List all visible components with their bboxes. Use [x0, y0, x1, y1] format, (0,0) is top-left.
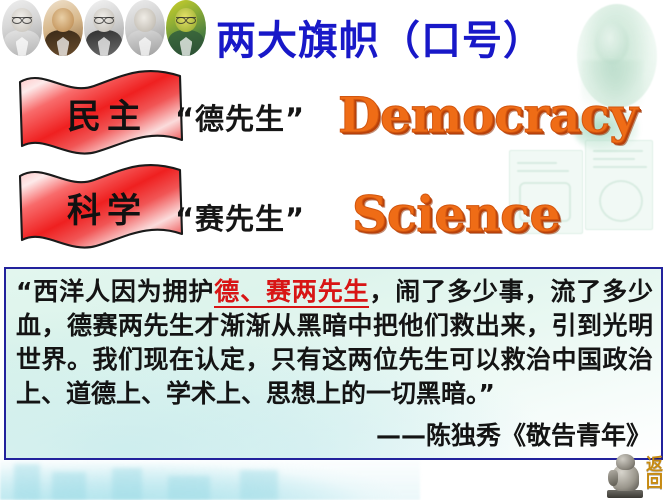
- portrait-face: [52, 8, 74, 33]
- watermark-line: [517, 162, 557, 164]
- statue-icon: [605, 450, 645, 498]
- statue-arm: [608, 470, 618, 486]
- glasses-icon: [12, 17, 33, 23]
- watermark-head: [595, 22, 629, 64]
- portrait-row: [2, 0, 208, 58]
- mr-science-label: “赛先生”: [175, 196, 305, 238]
- portrait-face: [134, 8, 156, 33]
- watermark-peak: [168, 476, 210, 500]
- portrait-5: [166, 0, 206, 56]
- watermark-line: [593, 150, 643, 152]
- watermark-line: [593, 166, 647, 168]
- flag-banner-science: 科学: [14, 160, 194, 252]
- return-button[interactable]: 返回: [605, 448, 667, 500]
- statue-head: [616, 454, 635, 470]
- portrait-2: [43, 0, 83, 56]
- watermark-peak: [240, 470, 278, 500]
- quote-highlight: 德、赛两先生: [214, 277, 369, 308]
- watermark-line: [517, 170, 569, 172]
- english-democracy: Democracy: [338, 86, 637, 144]
- watermark-peak: [112, 468, 142, 500]
- return-button-label: 返回: [646, 457, 664, 491]
- page-title: 两大旗帜（口号）: [216, 14, 566, 68]
- watermark-peak: [52, 472, 86, 500]
- quote-box: “西洋人因为拥护德、赛两先生，闹了多少事，流了多少血，德赛两先生才渐渐从黑暗中把…: [4, 267, 663, 460]
- watermark-line: [593, 158, 635, 160]
- flag-banner-democracy: 民主: [14, 66, 194, 158]
- glasses-icon: [94, 17, 115, 23]
- quote-attribution: ——陈独秀《敬告青年》: [376, 416, 651, 452]
- english-science: Science: [352, 185, 560, 243]
- watermark-sheet-right: [585, 140, 653, 230]
- portrait-3: [84, 0, 124, 56]
- statue-base: [607, 490, 643, 498]
- portrait-4: [125, 0, 165, 56]
- flag-label-minzhu: 民主: [14, 66, 194, 158]
- glasses-icon: [176, 17, 197, 23]
- watermark-peak: [14, 464, 40, 500]
- mr-democracy-label: “德先生”: [175, 96, 305, 138]
- portrait-1: [2, 0, 42, 56]
- slide-canvas: 两大旗帜（口号） 民主: [0, 0, 667, 500]
- quote-text: “西洋人因为拥护德、赛两先生，闹了多少事，流了多少血，德赛两先生才渐渐从黑暗中把…: [6, 269, 661, 411]
- quote-part-1: “西洋人因为拥护: [16, 277, 214, 306]
- flag-label-kexue: 科学: [14, 160, 194, 252]
- watermark-circle: [599, 180, 643, 222]
